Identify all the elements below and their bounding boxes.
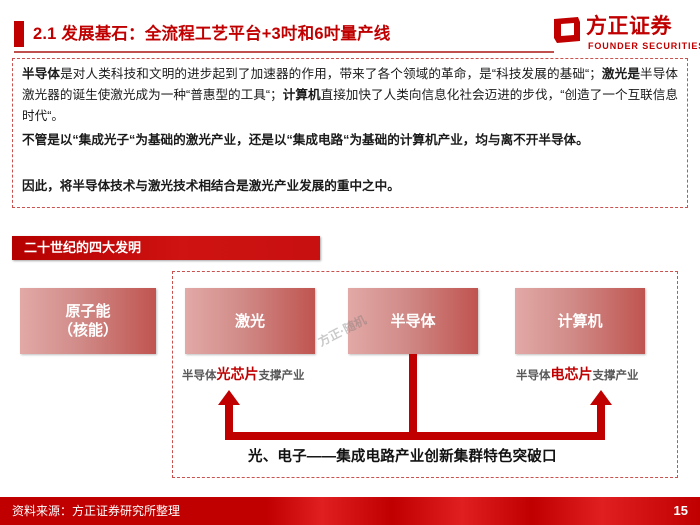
invention-box-laser: 激光 — [185, 288, 315, 354]
emphasis-run: 激光是 — [602, 67, 640, 81]
logo-text-en: FOUNDER SECURITIES — [588, 41, 700, 51]
invention-box-label-line1: 激光 — [235, 312, 265, 331]
caption-suffix: 支撑产业 — [593, 370, 639, 382]
invention-box-label-line1: 半导体 — [390, 312, 435, 331]
invention-box-label: 计算机 — [557, 312, 602, 331]
invention-box-label: 激光 — [235, 312, 265, 331]
footer-page-number: 15 — [674, 497, 688, 525]
page-title: 2.1 发展基石：全流程工艺平台+3吋和6吋量产线 — [33, 21, 391, 47]
body-paragraph-3: 因此，将半导体技术与激光技术相结合是激光产业发展的重中之中。 — [22, 176, 678, 197]
body-paragraph-1: 半导体是对人类科技和文明的进步起到了加速器的作用，带来了各个领域的革命，是“科技… — [22, 64, 678, 127]
invention-box-label-line2: （核能） — [58, 321, 118, 340]
invention-box-atomic-energy: 原子能（核能） — [20, 288, 156, 354]
emphasis-run: 计算机 — [283, 88, 321, 102]
caption-suffix: 支撑产业 — [259, 370, 305, 382]
body-paragraph-2: 不管是以“集成光子“为基础的激光产业，还是以“集成电路“为基础的计算机产业，均与… — [22, 130, 678, 151]
section-banner: 二十世纪的四大发明 — [12, 236, 320, 260]
slide-footer: 资料来源：方正证券研究所整理 15 — [0, 497, 700, 525]
caption-prefix: 半导体 — [516, 370, 551, 382]
invention-box-label: 半导体 — [390, 312, 435, 331]
logo-text-cn: 方正证券 — [586, 14, 672, 39]
connector-horizontal-rail — [225, 432, 605, 440]
connector-riser-left — [225, 404, 233, 438]
slide-header: 2.1 发展基石：全流程工艺平台+3吋和6吋量产线 方正证券 FOUNDER S… — [0, 0, 700, 58]
caption-highlight: 光芯片 — [217, 366, 259, 382]
caption-optical-chip: 半导体光芯片支撑产业 — [182, 367, 305, 384]
invention-box-label-line1: 计算机 — [557, 312, 602, 331]
text-run: 是对人类科技和文明的进步起到了加速器的作用，带来了各个领域的革命，是“科技发展的… — [60, 67, 602, 81]
header-accent-bar — [14, 21, 24, 47]
arrow-head-right-icon — [590, 390, 612, 405]
invention-box-label: 原子能（核能） — [58, 302, 118, 340]
invention-box-computer: 计算机 — [515, 288, 645, 354]
invention-box-semiconductor: 半导体 — [348, 288, 478, 354]
footer-source-label: 资料来源：方正证券研究所整理 — [12, 497, 180, 525]
header-divider — [14, 51, 554, 53]
founder-logo-mark-icon — [552, 16, 582, 44]
connector-riser-right — [597, 404, 605, 438]
section-banner-label: 二十世纪的四大发明 — [24, 236, 141, 260]
caption-prefix: 半导体 — [182, 370, 217, 382]
brand-logo: 方正证券 FOUNDER SECURITIES — [552, 14, 692, 56]
caption-highlight: 电芯片 — [551, 366, 593, 382]
arrow-head-left-icon — [218, 390, 240, 405]
caption-electronic-chip: 半导体电芯片支撑产业 — [516, 367, 639, 384]
invention-box-label-line1: 原子能 — [58, 302, 118, 321]
emphasis-run: 半导体 — [22, 67, 60, 81]
conclusion-text: 光、电子——集成电路产业创新集群特色突破口 — [248, 445, 557, 466]
connector-stub-down — [409, 354, 417, 440]
